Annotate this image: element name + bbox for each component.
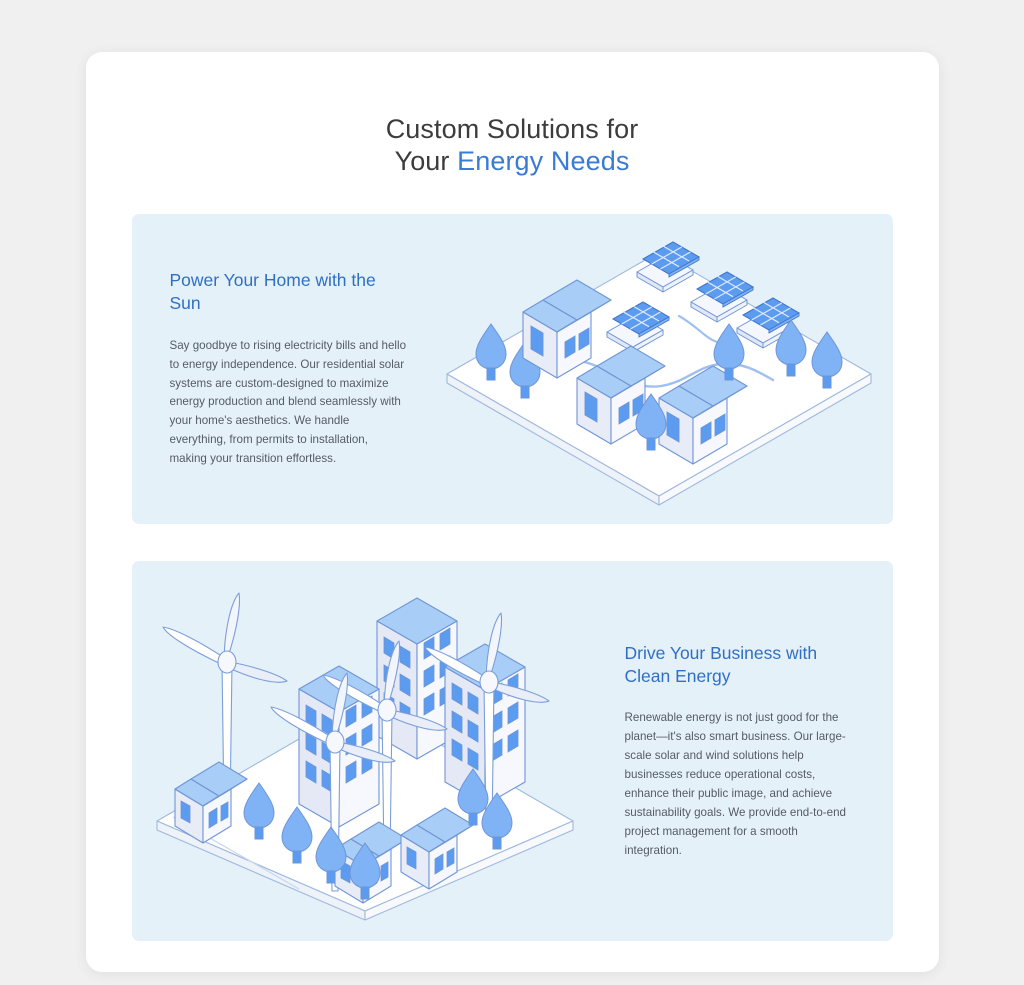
content-panel: Custom Solutions for Your Energy Needs P… (86, 52, 939, 972)
page-title: Custom Solutions for Your Energy Needs (86, 92, 939, 177)
card-text-block: Drive Your Business with Clean Energy Re… (599, 642, 893, 861)
card-residential-solar: Power Your Home with the Sun Say goodbye… (132, 214, 893, 524)
illustration-neighborhood-solar (426, 214, 893, 524)
card-body: Renewable energy is not just good for th… (625, 709, 855, 860)
page-title-accent: Energy Needs (457, 146, 629, 176)
card-heading: Power Your Home with the Sun (170, 269, 408, 315)
card-body: Say goodbye to rising electricity bills … (170, 337, 408, 469)
illustration-city-wind (132, 561, 599, 941)
page-title-line-1: Custom Solutions for (86, 114, 939, 146)
card-commercial-clean-energy: Drive Your Business with Clean Energy Re… (132, 561, 893, 941)
page-root: Custom Solutions for Your Energy Needs P… (0, 0, 1024, 985)
page-title-line-2: Your Energy Needs (86, 146, 939, 178)
card-heading: Drive Your Business with Clean Energy (625, 642, 855, 688)
page-title-prefix: Your (395, 146, 458, 176)
card-text-block: Power Your Home with the Sun Say goodbye… (132, 269, 426, 469)
